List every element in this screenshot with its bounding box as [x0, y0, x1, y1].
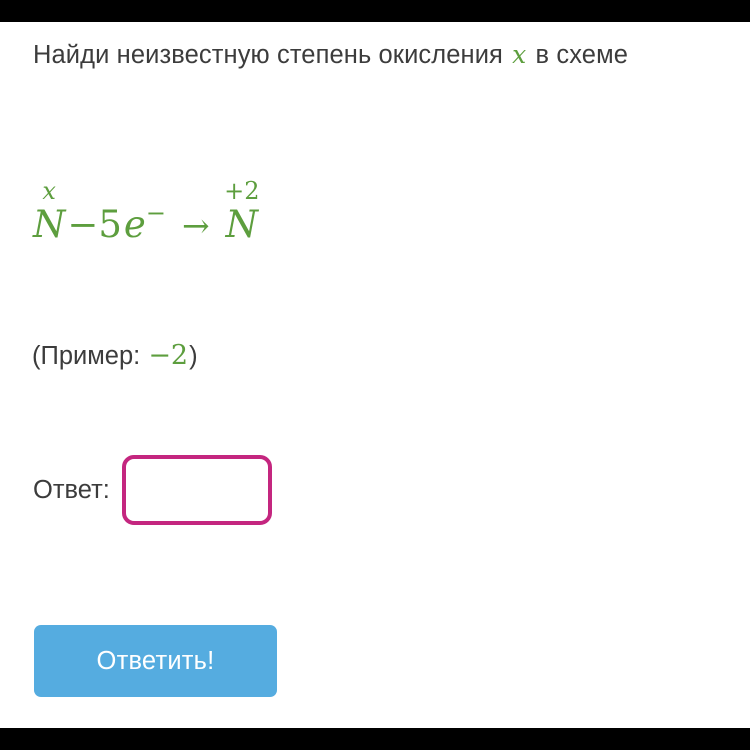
- page-viewport: Найди неизвестную степень окисления x в …: [0, 22, 750, 728]
- answer-label: Ответ:: [33, 476, 110, 505]
- equation-operator: −5: [65, 203, 124, 246]
- question-title: Найди неизвестную степень окисления x в …: [33, 32, 688, 78]
- example-prefix: (Пример:: [32, 342, 147, 370]
- equation-electron-charge: −: [146, 199, 166, 227]
- equation-left-term: xN: [33, 206, 65, 243]
- equation-right-term: +2N: [226, 206, 258, 243]
- chemical-equation: xN−5e−→+2N: [33, 206, 258, 243]
- example-suffix: ): [189, 342, 198, 370]
- question-text-after: в схеме: [528, 41, 628, 69]
- exercise-content: Найди неизвестную степень окисления x в …: [0, 22, 720, 728]
- equation-electron-symbol: e: [124, 203, 146, 246]
- equation-right-oxidation-state: +2: [224, 179, 259, 203]
- example-hint: (Пример: −2): [32, 340, 198, 371]
- equation-arrow-icon: →: [166, 206, 226, 245]
- device-screen: Найди неизвестную степень окисления x в …: [0, 0, 750, 750]
- answer-input[interactable]: [122, 455, 272, 525]
- example-value: −2: [147, 340, 189, 371]
- question-text-before: Найди неизвестную степень окисления: [33, 41, 510, 69]
- equation-left-element: N: [33, 206, 65, 243]
- vertical-scrollbar[interactable]: [736, 22, 746, 728]
- equation-right-element: N: [226, 206, 258, 243]
- equation-left-oxidation-state: x: [42, 179, 56, 203]
- status-bar-top: [0, 0, 750, 22]
- submit-answer-button[interactable]: Ответить!: [34, 625, 277, 697]
- answer-row: Ответ:: [33, 455, 272, 525]
- status-bar-bottom: [0, 728, 750, 750]
- question-variable-x: x: [510, 40, 528, 69]
